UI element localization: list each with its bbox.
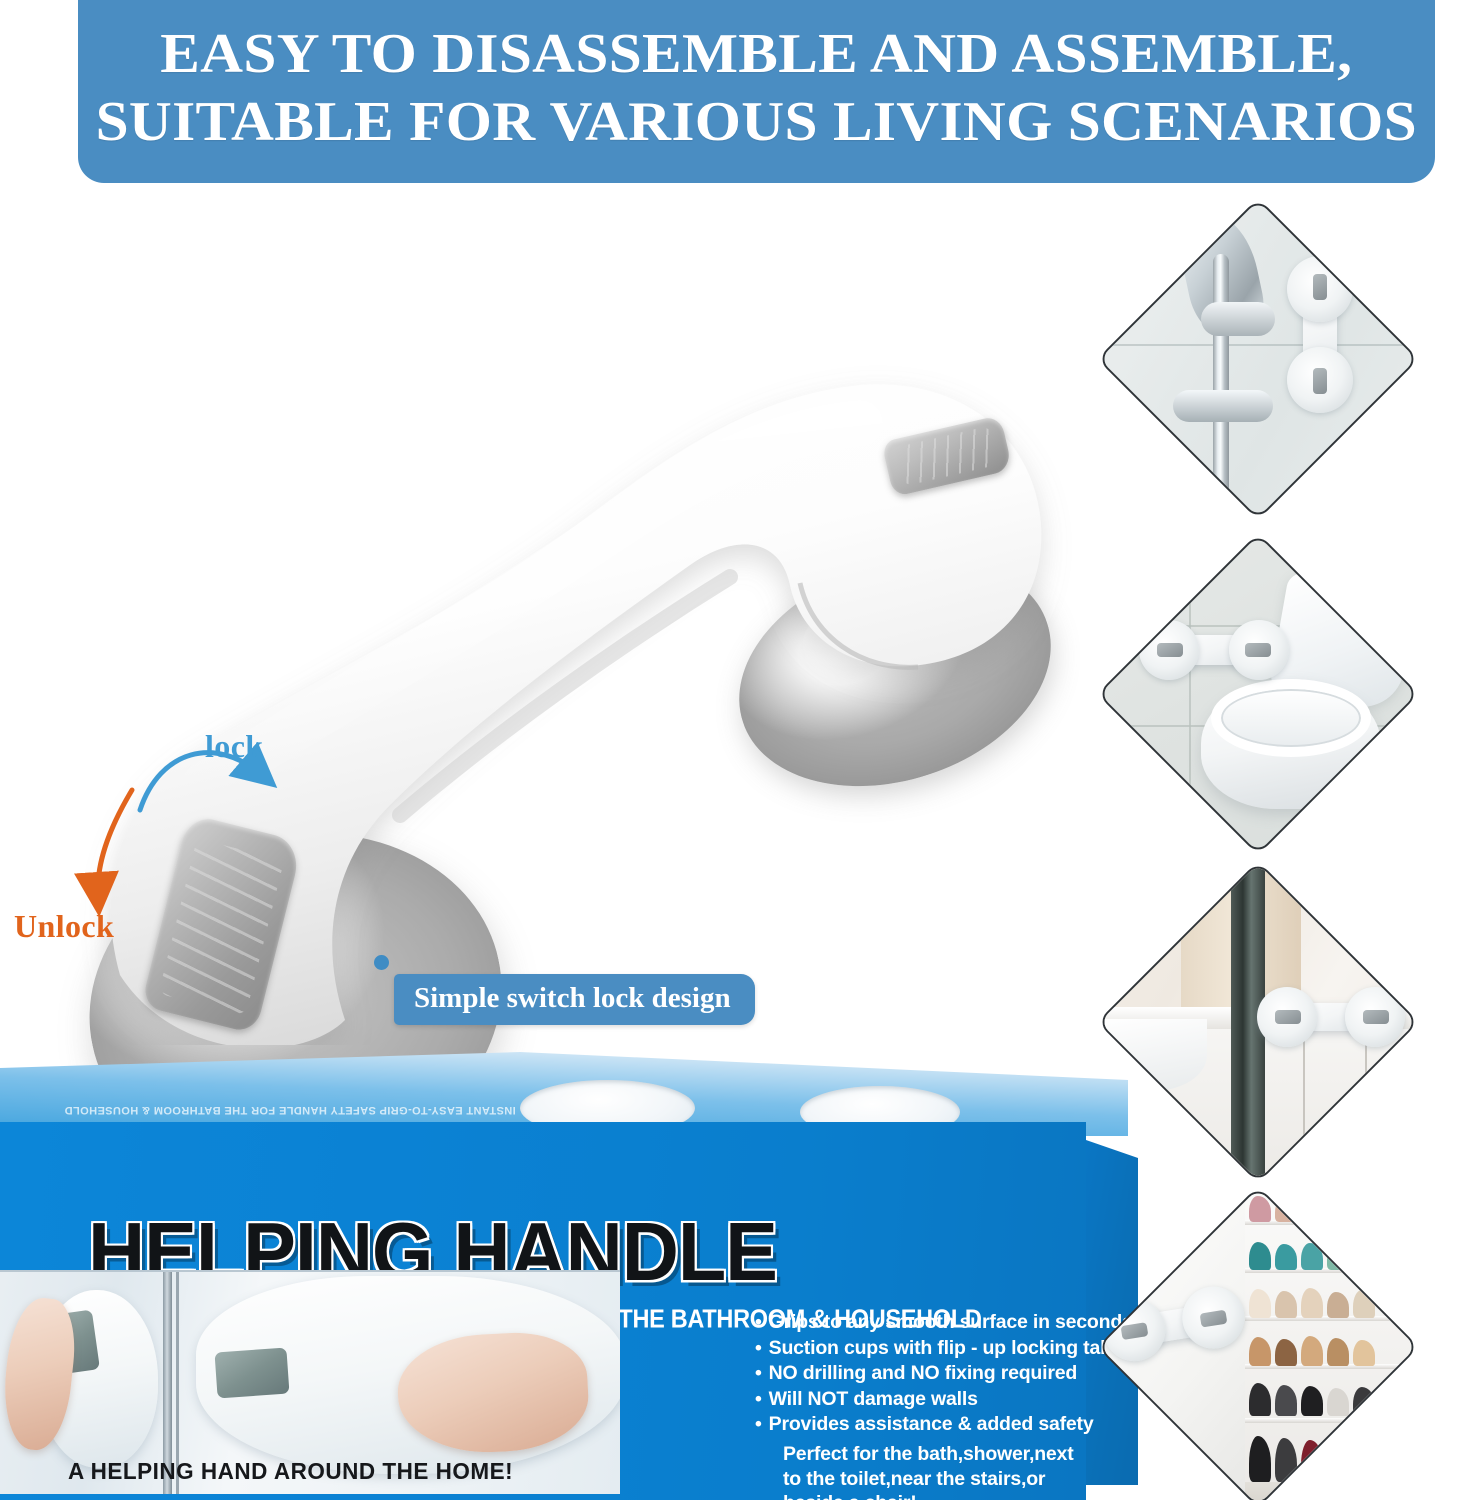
scenario-tile-glass-door bbox=[1097, 861, 1419, 1183]
shoe bbox=[1353, 1387, 1375, 1416]
shoe bbox=[1301, 1243, 1323, 1270]
cabinet-seam bbox=[1303, 1029, 1305, 1183]
box-top-fine-print: INSTANT EASY-TO-GRIP SAFETY HANDLE FOR T… bbox=[60, 1076, 520, 1116]
shoe bbox=[1275, 1244, 1297, 1270]
shoe-shelf bbox=[1245, 1418, 1419, 1423]
box-usage-note: Perfect for the bath,shower,next to the … bbox=[783, 1442, 1083, 1500]
lock-label: lock bbox=[205, 728, 264, 765]
shoe bbox=[1249, 1383, 1271, 1416]
shoe bbox=[1275, 1198, 1297, 1222]
box-feature-item: • NO drilling and NO fixing required bbox=[755, 1361, 1085, 1387]
callout-marker-dot bbox=[374, 955, 389, 970]
header-banner: EASY TO DISASSEMBLE AND ASSEMBLE, SUITAB… bbox=[78, 0, 1435, 183]
mounted-grab-handle bbox=[1155, 635, 1273, 665]
scenario-tile-closet bbox=[1097, 1186, 1419, 1500]
bullet-dot-icon: • bbox=[755, 1412, 762, 1438]
shoe bbox=[1353, 1246, 1375, 1270]
header-line-2: SUITABLE FOR VARIOUS LIVING SCENARIOS bbox=[96, 93, 1417, 152]
box-feature-text: Provides assistance & added safety bbox=[769, 1412, 1094, 1438]
lever-grip-ribs bbox=[158, 838, 284, 1015]
mini-lock-lever bbox=[1245, 643, 1271, 657]
bullet-dot-icon: • bbox=[755, 1310, 762, 1336]
boot bbox=[1301, 1440, 1323, 1482]
shoe bbox=[1327, 1338, 1349, 1366]
scenario-scene-closet bbox=[1097, 1186, 1419, 1500]
shoe-row bbox=[1249, 1332, 1419, 1366]
box-feature-item: • Will NOT damage walls bbox=[755, 1387, 1085, 1413]
shoe bbox=[1327, 1245, 1349, 1270]
mounted-grab-handle bbox=[1275, 1003, 1387, 1031]
box-feature-item: • Provides assistance & added safety bbox=[755, 1412, 1085, 1438]
shoe-row bbox=[1249, 1284, 1419, 1318]
mounted-grab-handle bbox=[1303, 272, 1337, 397]
unlock-label: Unlock bbox=[14, 908, 114, 945]
box-feature-text: Suction cups with flip - up locking tabs bbox=[769, 1336, 1123, 1362]
bullet-dot-icon: • bbox=[755, 1361, 762, 1387]
product-hero-image: lock Unlock Simple switch lock design bbox=[0, 185, 1140, 1045]
mini-lock-lever bbox=[1157, 643, 1183, 657]
shoe-row bbox=[1249, 1432, 1419, 1482]
toilet-seat bbox=[1211, 679, 1371, 757]
scenario-scene-glass-door bbox=[1097, 861, 1419, 1183]
box-feature-text: NO drilling and NO fixing required bbox=[769, 1361, 1077, 1387]
boot bbox=[1327, 1442, 1349, 1482]
cabinet-seam bbox=[1365, 1029, 1367, 1183]
shoe bbox=[1275, 1291, 1297, 1318]
scenario-tile-toilet bbox=[1097, 533, 1419, 855]
bullet-dot-icon: • bbox=[755, 1387, 762, 1413]
shoe bbox=[1301, 1288, 1323, 1318]
shoe bbox=[1275, 1385, 1297, 1416]
shoe bbox=[1379, 1389, 1401, 1416]
shoe bbox=[1249, 1337, 1271, 1366]
box-photo-tagline: A HELPING HAND AROUND THE HOME! bbox=[68, 1458, 513, 1485]
mini-lock-lever bbox=[1313, 368, 1327, 394]
closet-floor bbox=[1245, 1482, 1419, 1500]
scenario-scene-toilet bbox=[1097, 533, 1419, 855]
boot bbox=[1249, 1436, 1271, 1482]
infographic-page: EASY TO DISASSEMBLE AND ASSEMBLE, SUITAB… bbox=[0, 0, 1470, 1500]
shoe bbox=[1249, 1242, 1271, 1270]
box-feature-text: Grips to any smooth surface in seconds bbox=[769, 1310, 1133, 1336]
box-photo-panel: A HELPING HAND AROUND THE HOME! bbox=[0, 1270, 620, 1494]
shoe bbox=[1249, 1196, 1271, 1222]
box-photo-lever-right bbox=[214, 1348, 289, 1399]
shoe bbox=[1327, 1199, 1349, 1222]
shoe bbox=[1353, 1290, 1375, 1318]
shoe bbox=[1249, 1289, 1271, 1318]
shoe-row bbox=[1249, 1382, 1419, 1416]
scenario-tile-shower bbox=[1097, 198, 1419, 520]
box-feature-list: • Grips to any smooth surface in seconds… bbox=[755, 1310, 1085, 1438]
boot bbox=[1353, 1444, 1375, 1482]
product-retail-box: INSTANT EASY-TO-GRIP SAFETY HANDLE FOR T… bbox=[0, 1052, 1140, 1500]
shoe bbox=[1301, 1195, 1323, 1222]
box-feature-text: Will NOT damage walls bbox=[769, 1387, 978, 1413]
shower-bracket bbox=[1201, 302, 1275, 336]
shoe-row bbox=[1249, 1188, 1419, 1222]
shoe bbox=[1327, 1388, 1349, 1416]
mini-lock-lever bbox=[1363, 1010, 1389, 1024]
shower-rail bbox=[1213, 254, 1229, 504]
shoe bbox=[1353, 1340, 1375, 1366]
wall-tile-line bbox=[1189, 533, 1191, 855]
box-feature-item: • Suction cups with flip - up locking ta… bbox=[755, 1336, 1085, 1362]
header-line-1: EASY TO DISASSEMBLE AND ASSEMBLE, bbox=[160, 25, 1352, 84]
grab-handle-illustration: lock Unlock Simple switch lock design bbox=[0, 185, 1140, 1045]
mini-lock-lever bbox=[1275, 1010, 1301, 1024]
callout-simple-switch-lock-design: Simple switch lock design bbox=[394, 974, 755, 1025]
shoe bbox=[1275, 1339, 1297, 1366]
mini-lock-lever bbox=[1313, 274, 1327, 300]
boot bbox=[1275, 1438, 1297, 1482]
shoe-row bbox=[1249, 1236, 1419, 1270]
shower-mixer bbox=[1173, 390, 1273, 422]
box-front-face: HELPING HANDLE INSTANT EASY-TO-GRIP SAFE… bbox=[0, 1122, 1086, 1500]
bullet-dot-icon: • bbox=[755, 1336, 762, 1362]
shoe bbox=[1301, 1336, 1323, 1366]
box-feature-item: • Grips to any smooth surface in seconds bbox=[755, 1310, 1085, 1336]
shoe bbox=[1327, 1292, 1349, 1318]
shoe bbox=[1301, 1386, 1323, 1416]
scenario-scene-shower bbox=[1097, 198, 1419, 520]
wall-tile-line bbox=[1097, 344, 1419, 346]
